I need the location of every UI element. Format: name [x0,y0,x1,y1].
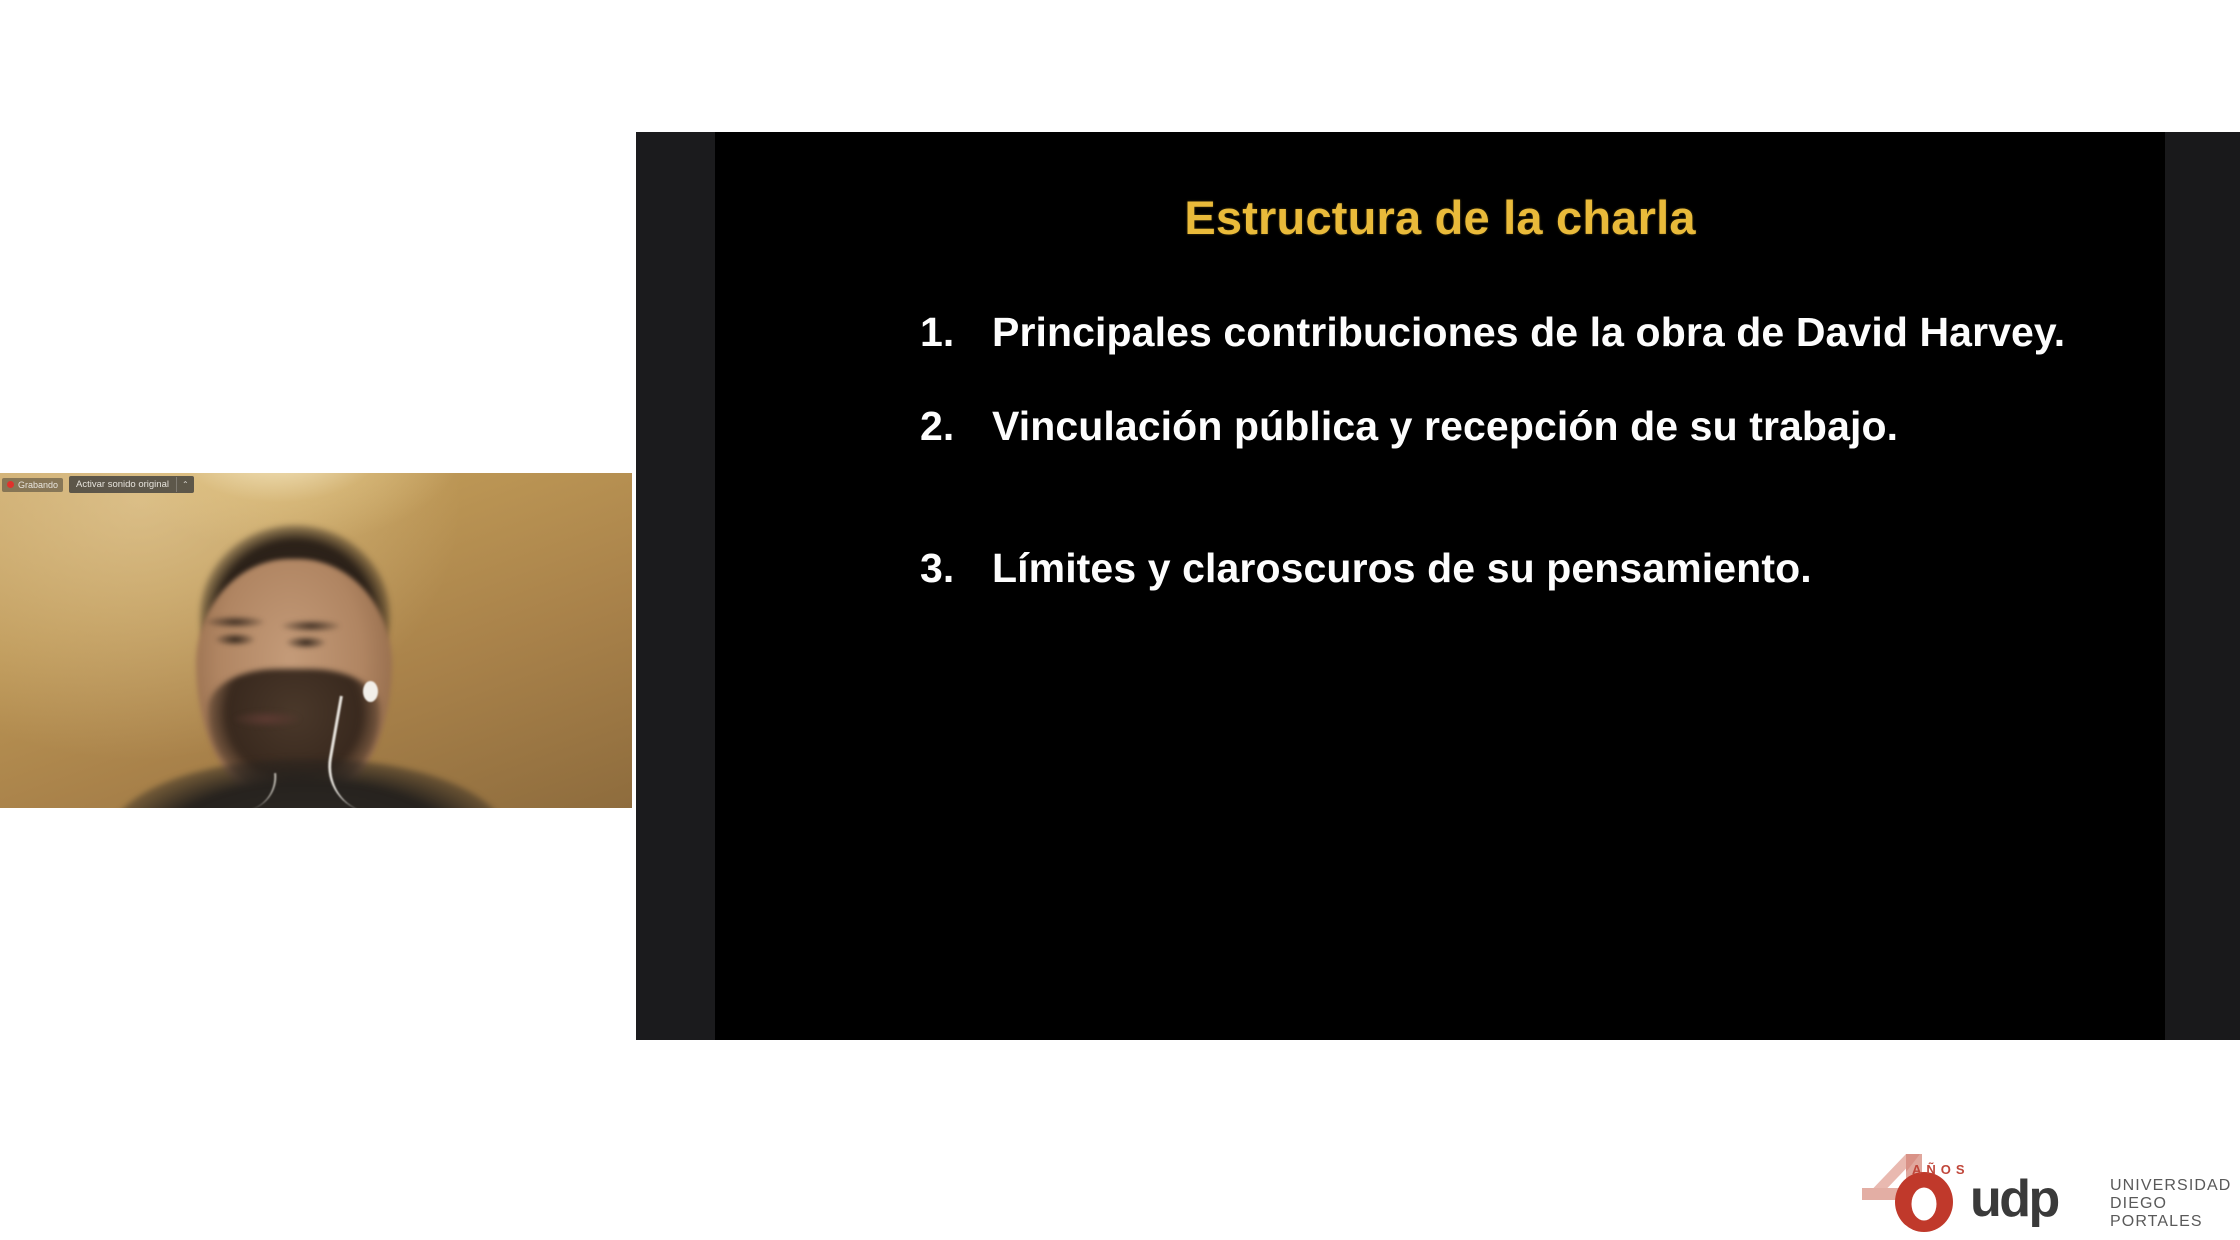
share-letterbox-right [2165,132,2240,1040]
logo-wordmark: udp [1970,1173,2058,1225]
participant-eyebrow-right [282,620,340,632]
participant-torso [108,759,508,808]
participant-eyebrow-left [206,616,264,628]
presentation-slide[interactable]: Estructura de la charla 1. Principales c… [715,132,2165,1040]
participant-mouth [234,711,300,727]
original-sound-button[interactable]: Activar sonido original ⌃ [69,476,194,493]
slide-title: Estructura de la charla [715,190,2165,245]
logo-anniversary-word: AÑOS [1912,1162,1970,1177]
agenda-item: 2. Vinculación pública y recepción de su… [920,401,2090,451]
original-sound-label: Activar sonido original [69,476,176,493]
participant-eye-left [215,633,255,646]
udp-40-anniversary-mark [1862,1148,1986,1232]
screen-share-region[interactable]: Estructura de la charla 1. Principales c… [636,132,2240,1040]
webcam-video-panel[interactable]: Grabando Activar sonido original ⌃ [0,473,632,808]
agenda-item: 3. Límites y claroscuros de su pensamien… [920,543,2090,593]
slide-agenda-list: 1. Principales contribuciones de la obra… [920,307,2090,593]
chevron-up-icon[interactable]: ⌃ [176,477,194,492]
recording-label: Grabando [18,480,58,490]
udp-logo: AÑOS udp UNIVERSIDAD DIEGO PORTALES [1862,1148,2192,1232]
recording-dot-icon [7,481,14,488]
agenda-item-text: Vinculación pública y recepción de su tr… [992,401,2090,451]
logo-institution-name: UNIVERSIDAD DIEGO PORTALES [2110,1177,2231,1231]
agenda-item-number: 3. [920,543,992,593]
agenda-item-number: 1. [920,307,992,357]
earbud-icon [363,681,378,702]
webcam-video-feed [0,473,632,808]
agenda-item-text: Límites y claroscuros de su pensamiento. [992,543,2090,593]
participant-eye-right [286,636,326,649]
agenda-item-number: 2. [920,401,992,451]
webcam-overlay-controls: Grabando Activar sonido original ⌃ [2,476,194,493]
agenda-item-text: Principales contribuciones de la obra de… [992,307,2090,357]
recording-status-badge: Grabando [2,478,63,492]
share-letterbox-left [636,132,715,1040]
agenda-item: 1. Principales contribuciones de la obra… [920,307,2090,357]
